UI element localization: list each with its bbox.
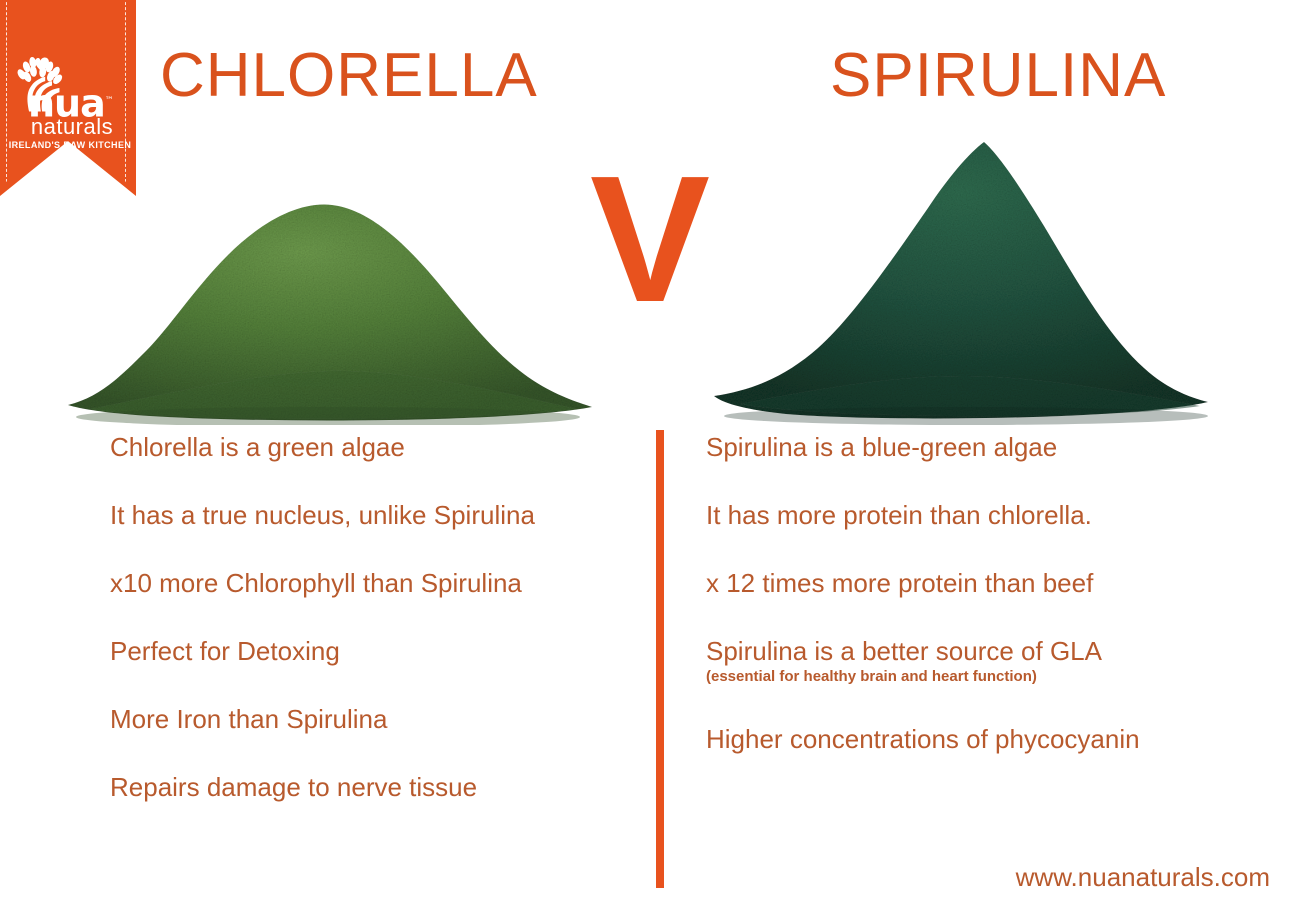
- list-item: x10 more Chlorophyll than Spirulina: [110, 568, 650, 598]
- chlorella-mound-graphic: [60, 105, 600, 425]
- list-item-label: Spirulina is a better source of GLA: [706, 636, 1102, 666]
- brand-sub-name: naturals: [12, 116, 132, 138]
- brand-tagline: IRELAND'S RAW KITCHEN: [8, 140, 132, 150]
- spirulina-mound-graphic: [700, 128, 1220, 428]
- list-item: Spirulina is a blue-green algae: [706, 432, 1254, 462]
- list-item: Repairs damage to nerve tissue: [110, 772, 650, 802]
- column-divider: [656, 430, 664, 888]
- infographic-canvas: nua™ naturals IRELAND'S RAW KITCHEN: [0, 0, 1294, 908]
- list-item: Higher concentrations of phycocyanin: [706, 724, 1254, 754]
- list-item: More Iron than Spirulina: [110, 704, 650, 734]
- list-item-subtext: (essential for healthy brain and heart f…: [706, 668, 1254, 686]
- list-item: Spirulina is a better source of GLA (ess…: [706, 636, 1254, 686]
- website-url[interactable]: www.nuanaturals.com: [1016, 862, 1270, 892]
- list-item: x 12 times more protein than beef: [706, 568, 1254, 598]
- page-title-chlorella: CHLORELLA: [160, 45, 538, 107]
- brand-logo: nua™ naturals IRELAND'S RAW KITCHEN: [0, 0, 136, 196]
- spirulina-fact-list: Spirulina is a blue-green algae It has m…: [706, 432, 1254, 792]
- list-item: Perfect for Detoxing: [110, 636, 650, 666]
- list-item: It has more protein than chlorella.: [706, 500, 1254, 530]
- list-item: Chlorella is a green algae: [110, 432, 650, 462]
- list-item: It has a true nucleus, unlike Spirulina: [110, 500, 650, 530]
- versus-glyph: V: [580, 150, 720, 330]
- brand-trademark: ™: [105, 96, 113, 106]
- chlorella-powder-image: [60, 105, 600, 425]
- chlorella-fact-list: Chlorella is a green algae It has a true…: [110, 432, 650, 840]
- page-title-spirulina: SPIRULINA: [830, 45, 1166, 107]
- spirulina-powder-image: [700, 128, 1220, 428]
